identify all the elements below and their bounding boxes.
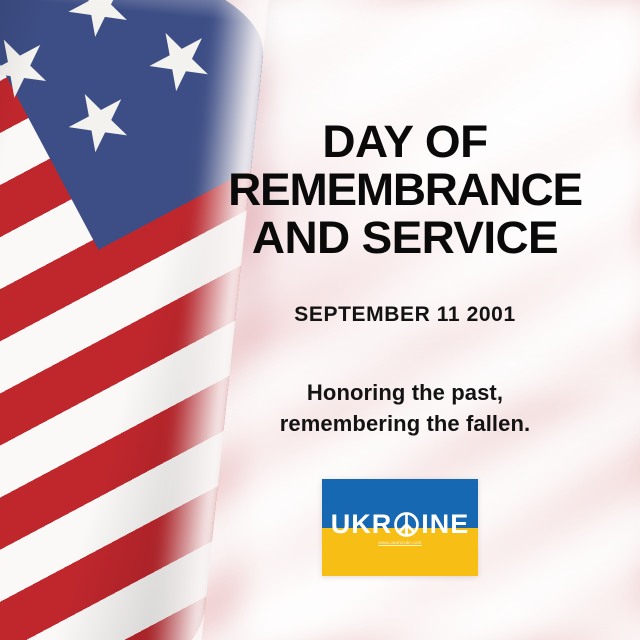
page-title: DAY OF REMEMBRANCE AND SERVICE — [165, 118, 640, 262]
ukraine-wordmark-prefix: UKR — [331, 511, 393, 538]
ukraine-wordmark-suffix: INE — [421, 511, 469, 538]
ukraine-flag-badge: UKR INE www.usaforukr.com — [322, 479, 478, 576]
poster-canvas: DAY OF REMEMBRANCE AND SERVICE SEPTEMBER… — [0, 0, 640, 640]
headline-line-1: DAY OF — [165, 118, 640, 166]
tagline: Honoring the past, remembering the falle… — [170, 377, 640, 439]
headline-line-3: AND SERVICE — [165, 214, 640, 262]
date-subtitle: SEPTEMBER 11 2001 — [170, 303, 640, 327]
tagline-line-1: Honoring the past, — [170, 377, 640, 408]
ukraine-badge-url[interactable]: www.usaforukr.com — [322, 540, 478, 545]
tagline-line-2: remembering the fallen. — [170, 408, 640, 439]
headline-line-2: REMEMBRANCE — [165, 166, 640, 214]
ukraine-wordmark: UKR INE — [322, 507, 478, 541]
peace-icon — [393, 511, 420, 538]
